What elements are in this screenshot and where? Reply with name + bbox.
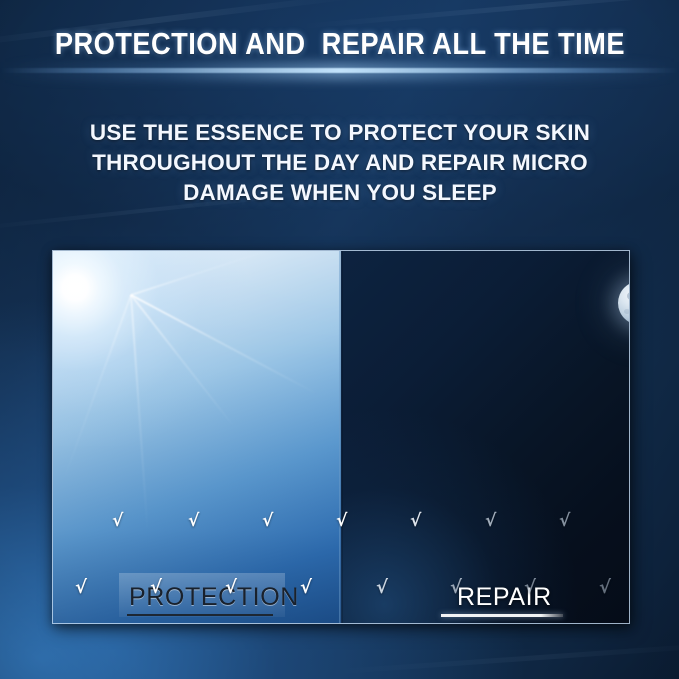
- vignette: [0, 0, 679, 679]
- poster-canvas: PROTECTION AND REPAIR ALL THE TIME USE T…: [0, 0, 679, 679]
